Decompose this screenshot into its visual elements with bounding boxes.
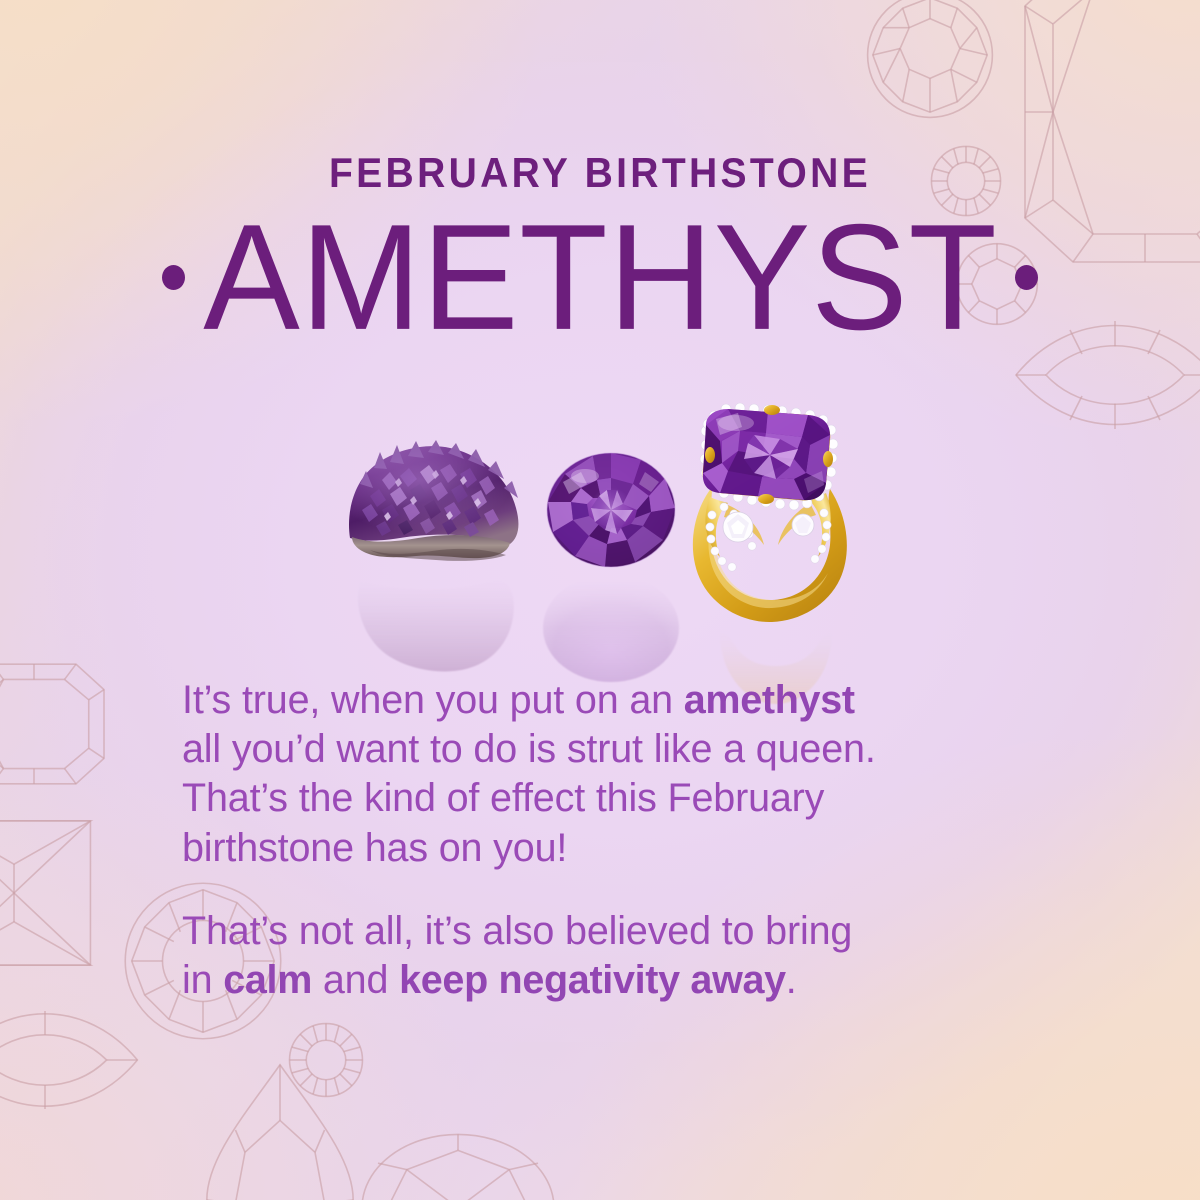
copy-line: in calm and keep negativity away. <box>182 956 1062 1005</box>
amethyst-halo-ring <box>676 401 860 626</box>
copy-run: That’s the kind of effect this February <box>182 776 824 820</box>
marquise-outline-bottom-left <box>0 990 150 1130</box>
paragraph-1: It’s true, when you put on an amethystal… <box>182 676 1062 873</box>
copy-line: birthstone has on you! <box>182 824 1062 873</box>
princess-cut-outline-left <box>0 818 94 968</box>
page-title: AMETHYST <box>203 210 997 345</box>
copy-run: in <box>182 958 223 1002</box>
oval-cut-outline-bottom <box>358 1128 558 1200</box>
copy-emphasis: amethyst <box>684 678 855 722</box>
raw-amethyst-geode <box>340 438 530 573</box>
copy-line: That’s the kind of effect this February <box>182 774 1062 823</box>
poster-canvas: FEBRUARY BIRTHSTONE AMETHYST <box>0 0 1200 1200</box>
title-dot-left-icon <box>162 265 185 290</box>
body-copy: It’s true, when you put on an amethystal… <box>182 676 1062 1005</box>
title-row: AMETHYST <box>0 214 1200 342</box>
copy-run: all you’d want to do is strut like a que… <box>182 727 876 771</box>
title-dot-right-icon <box>1015 265 1038 290</box>
round-brilliant-outline-top-left <box>865 0 995 120</box>
copy-line: It’s true, when you put on an amethyst <box>182 676 1062 725</box>
copy-run: and <box>312 958 399 1002</box>
paragraph-2: That’s not all, it’s also believed to br… <box>182 907 1062 1005</box>
copy-run: That’s not all, it’s also believed to br… <box>182 909 852 953</box>
copy-emphasis: keep negativity away <box>399 958 786 1002</box>
gemstone-showcase <box>0 398 1200 668</box>
emerald-cut-outline-left <box>0 664 104 784</box>
eyebrow-text: FEBRUARY BIRTHSTONE <box>42 152 1158 194</box>
poster-header: FEBRUARY BIRTHSTONE AMETHYST <box>0 152 1200 342</box>
copy-run: . <box>786 958 797 1002</box>
raw-amethyst-geode-reflection <box>345 574 527 682</box>
copy-line: all you’d want to do is strut like a que… <box>182 725 1062 774</box>
round-small-outline-bottom <box>288 1022 364 1098</box>
copy-emphasis: calm <box>223 958 312 1002</box>
copy-line: That’s not all, it’s also believed to br… <box>182 907 1062 956</box>
copy-run: birthstone has on you! <box>182 826 567 870</box>
copy-run: It’s true, when you put on an <box>182 678 684 722</box>
round-cut-amethyst <box>537 450 685 574</box>
